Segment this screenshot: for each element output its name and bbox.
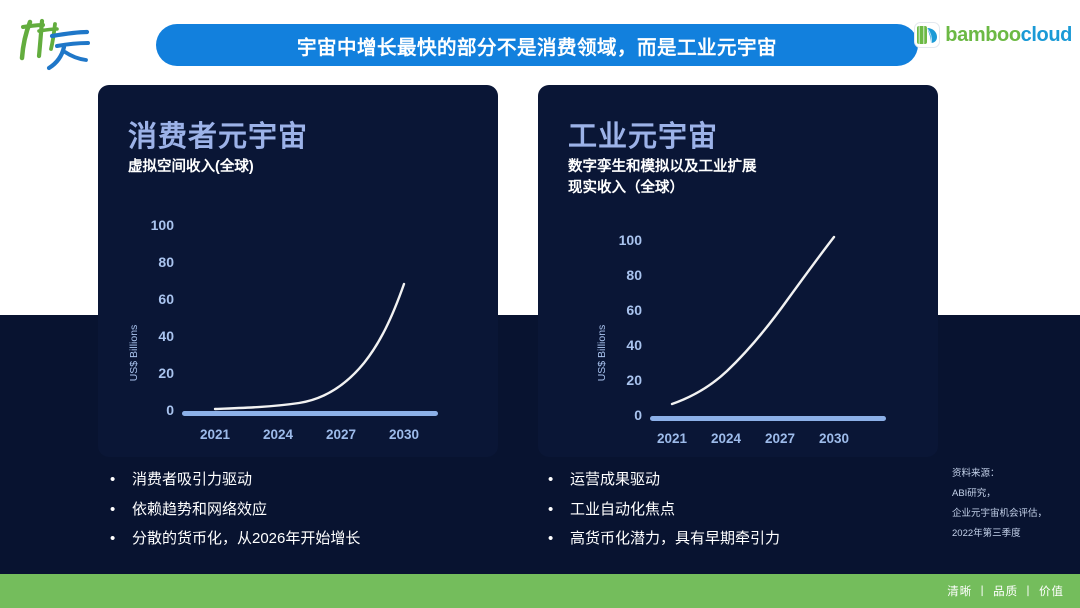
bamboocloud-logo: bamboocloud xyxy=(914,22,1072,48)
footer-tagline: 清晰 丨 品质 丨 价值 xyxy=(947,583,1080,599)
ytick-40: 40 xyxy=(626,337,642,353)
bamboocloud-wordmark: bamboocloud xyxy=(945,25,1072,45)
chart-consumer-metaverse: 100 80 60 40 20 0 US$ Billions 2021 2024… xyxy=(112,213,484,445)
bullet-dot-icon: • xyxy=(110,531,132,548)
bullet-dot-icon: • xyxy=(548,531,570,548)
xtick-2030: 2030 xyxy=(389,427,419,442)
chart-baseline xyxy=(182,411,438,416)
ytick-60: 60 xyxy=(158,291,174,307)
xtick-2027: 2027 xyxy=(326,427,356,442)
bullet-list-consumer: • 消费者吸引力驱动 • 依赖趋势和网络效应 • 分散的货币化，从2026年开始… xyxy=(110,472,530,561)
list-item: • 分散的货币化，从2026年开始增长 xyxy=(110,531,530,548)
card-industrial-metaverse: 工业元宇宙 数字孪生和模拟以及工业扩展 现实收入（全球） 100 80 60 4… xyxy=(538,85,938,457)
card-title-industrial: 工业元宇宙 xyxy=(568,113,718,155)
ytick-80: 80 xyxy=(158,254,174,270)
ytick-20: 20 xyxy=(626,372,642,388)
bullet-dot-icon: • xyxy=(548,502,570,519)
xtick-2027: 2027 xyxy=(765,431,795,445)
bullet-text: 工业自动化焦点 xyxy=(570,502,675,519)
bullet-dot-icon: • xyxy=(110,502,132,519)
bullet-text: 分散的货币化，从2026年开始增长 xyxy=(132,531,360,548)
bullet-dot-icon: • xyxy=(110,472,132,489)
slide-title-text: 宇宙中增长最快的部分不是消费领域，而是工业元宇宙 xyxy=(297,31,777,60)
data-line-industrial xyxy=(672,237,834,404)
bullet-text: 消费者吸引力驱动 xyxy=(132,472,252,489)
xtick-2030: 2030 xyxy=(819,431,849,445)
bullet-text: 高货币化潜力，具有早期牵引力 xyxy=(570,531,780,548)
card-title-consumer: 消费者元宇宙 xyxy=(128,113,308,155)
bamboo-leaf-icon xyxy=(914,22,940,48)
brand-logo-zhuyun xyxy=(8,6,104,78)
list-item: • 高货币化潜力，具有早期牵引力 xyxy=(548,531,968,548)
xtick-2021: 2021 xyxy=(657,431,688,445)
ytick-60: 60 xyxy=(626,302,642,318)
chart-baseline xyxy=(650,416,886,421)
list-item: • 依赖趋势和网络效应 xyxy=(110,502,530,519)
list-item: • 运营成果驱动 xyxy=(548,472,968,489)
footer-bar: 清晰 丨 品质 丨 价值 xyxy=(0,574,1080,608)
list-item: • 消费者吸引力驱动 xyxy=(110,472,530,489)
chart-industrial-metaverse: 100 80 60 40 20 0 US$ Billions 2021 2024… xyxy=(552,225,924,457)
bullet-text: 运营成果驱动 xyxy=(570,472,660,489)
xtick-2024: 2024 xyxy=(263,427,294,442)
ytick-0: 0 xyxy=(166,402,174,418)
bullet-text: 依赖趋势和网络效应 xyxy=(132,502,267,519)
slide-canvas: 宇宙中增长最快的部分不是消费领域，而是工业元宇宙 bamboocloud 消费者… xyxy=(0,0,1080,608)
xtick-2021: 2021 xyxy=(200,427,231,442)
wordmark-bamboo: bamboo xyxy=(945,24,1020,46)
ytick-40: 40 xyxy=(158,328,174,344)
source-note: 资料来源： ABI研究， 企业元宇宙机会评估， 2022年第三季度 xyxy=(952,464,1076,544)
card-subtitle-industrial: 数字孪生和模拟以及工业扩展 现实收入（全球） xyxy=(568,157,757,199)
xtick-2024: 2024 xyxy=(711,431,742,445)
y-axis-title-consumer: US$ Billions xyxy=(128,325,140,382)
list-item: • 工业自动化焦点 xyxy=(548,502,968,519)
y-axis-title-industrial: US$ Billions xyxy=(596,325,608,382)
card-consumer-metaverse: 消费者元宇宙 虚拟空间收入(全球) 100 80 60 40 20 0 US$ … xyxy=(98,85,498,457)
bullet-dot-icon: • xyxy=(548,472,570,489)
slide-title-banner: 宇宙中增长最快的部分不是消费领域，而是工业元宇宙 xyxy=(156,24,918,66)
ytick-100: 100 xyxy=(151,217,175,233)
bullet-list-industrial: • 运营成果驱动 • 工业自动化焦点 • 高货币化潜力，具有早期牵引力 xyxy=(548,472,968,561)
ytick-20: 20 xyxy=(158,365,174,381)
ytick-100: 100 xyxy=(619,232,643,248)
data-line-consumer xyxy=(215,284,404,409)
ytick-80: 80 xyxy=(626,267,642,283)
wordmark-cloud: cloud xyxy=(1021,24,1072,46)
card-subtitle-consumer: 虚拟空间收入(全球) xyxy=(128,157,254,178)
ytick-0: 0 xyxy=(634,407,642,423)
